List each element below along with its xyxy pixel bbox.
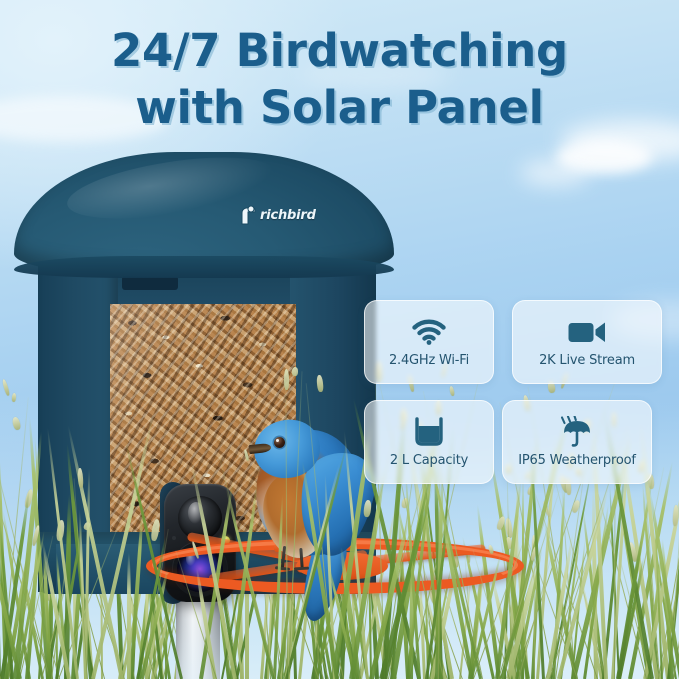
headline-line-2: with Solar Panel xyxy=(0,79,679,136)
headline-line-1: 24/7 Birdwatching xyxy=(111,24,568,77)
roof-rim xyxy=(14,256,394,278)
product-marketing-image: 24/7 Birdwatching with Solar Panel xyxy=(0,0,679,679)
brand-name: richbird xyxy=(260,208,316,223)
feature-label: 2.4GHz Wi-Fi xyxy=(389,353,469,368)
feeder-vent xyxy=(122,276,178,290)
grass-seedhead xyxy=(363,500,371,517)
grass-seedhead xyxy=(292,367,298,376)
umbrella-icon xyxy=(556,416,598,448)
grass-seedhead xyxy=(78,468,84,488)
feature-label: 2K Live Stream xyxy=(539,353,635,368)
grass-seedhead xyxy=(12,416,22,431)
container-icon xyxy=(412,416,446,448)
wifi-icon xyxy=(412,316,446,348)
grass-seedhead xyxy=(496,515,506,530)
grass-seedhead xyxy=(150,518,160,540)
grass-stalk xyxy=(285,380,288,679)
cloud xyxy=(520,160,590,186)
feature-badge-live-stream[interactable]: 2K Live Stream xyxy=(512,300,662,384)
brand-logo: richbird xyxy=(238,205,316,225)
bird-logo-icon xyxy=(238,205,257,225)
grass-blade xyxy=(648,491,679,679)
grass-seedhead xyxy=(284,369,289,391)
grass-seedhead xyxy=(488,545,494,555)
grass-seedhead xyxy=(191,541,199,559)
feature-badge-capacity[interactable]: 2 L Capacity xyxy=(364,400,494,484)
grass-blade xyxy=(127,552,131,679)
feature-label: IP65 Weatherproof xyxy=(518,453,635,468)
feature-label: 2 L Capacity xyxy=(390,453,468,468)
video-camera-icon xyxy=(567,316,607,348)
grass-blade xyxy=(439,508,474,679)
grass-blade xyxy=(273,494,284,679)
feature-badge-group: 2.4GHz Wi-Fi 2K Live Stream 2 L Capacity xyxy=(364,300,664,490)
feature-badge-weatherproof[interactable]: IP65 Weatherproof xyxy=(502,400,652,484)
page-title: 24/7 Birdwatching with Solar Panel xyxy=(0,22,679,136)
grass-seedhead xyxy=(243,449,249,462)
feature-badge-wifi[interactable]: 2.4GHz Wi-Fi xyxy=(364,300,494,384)
